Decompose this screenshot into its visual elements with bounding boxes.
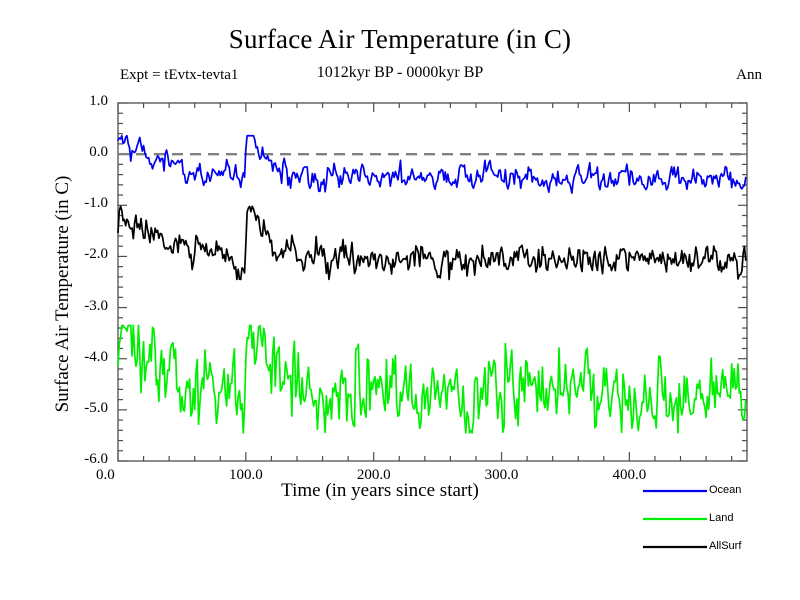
- y-tick-label: 0.0: [60, 144, 108, 161]
- y-tick-label: -6.0: [60, 451, 108, 468]
- series-line-allsurf: [118, 206, 746, 279]
- x-tick-label: 400.0: [594, 467, 664, 484]
- y-tick-label: -3.0: [60, 298, 108, 315]
- plot-canvas: [0, 0, 800, 600]
- chart-figure: Surface Air Temperature (in C) 1012kyr B…: [0, 0, 800, 600]
- y-tick-label: 1.0: [60, 93, 108, 110]
- y-tick-label: -1.0: [60, 195, 108, 212]
- y-tick-label: -5.0: [60, 400, 108, 417]
- period-label: Ann: [736, 67, 762, 84]
- chart-title: Surface Air Temperature (in C): [0, 24, 800, 55]
- y-tick-label: -4.0: [60, 349, 108, 366]
- y-tick-label: -2.0: [60, 246, 108, 263]
- data-series-layer: [118, 136, 746, 433]
- x-tick-label: 200.0: [339, 467, 409, 484]
- experiment-label: Expt = tEvtx-tevta1: [120, 67, 238, 84]
- legend-label-ocean: Ocean: [709, 484, 741, 496]
- axis-ticks: [118, 103, 747, 461]
- series-line-land: [118, 325, 746, 432]
- y-axis-title: Surface Air Temperature (in C): [52, 114, 74, 474]
- x-tick-label: 300.0: [467, 467, 537, 484]
- legend-label-allsurf: AllSurf: [709, 540, 741, 552]
- series-line-ocean: [118, 136, 746, 193]
- legend-label-land: Land: [709, 512, 733, 524]
- axis-frame: [118, 103, 747, 461]
- x-tick-label: 100.0: [211, 467, 281, 484]
- x-tick-label-origin: 0.0: [96, 467, 115, 484]
